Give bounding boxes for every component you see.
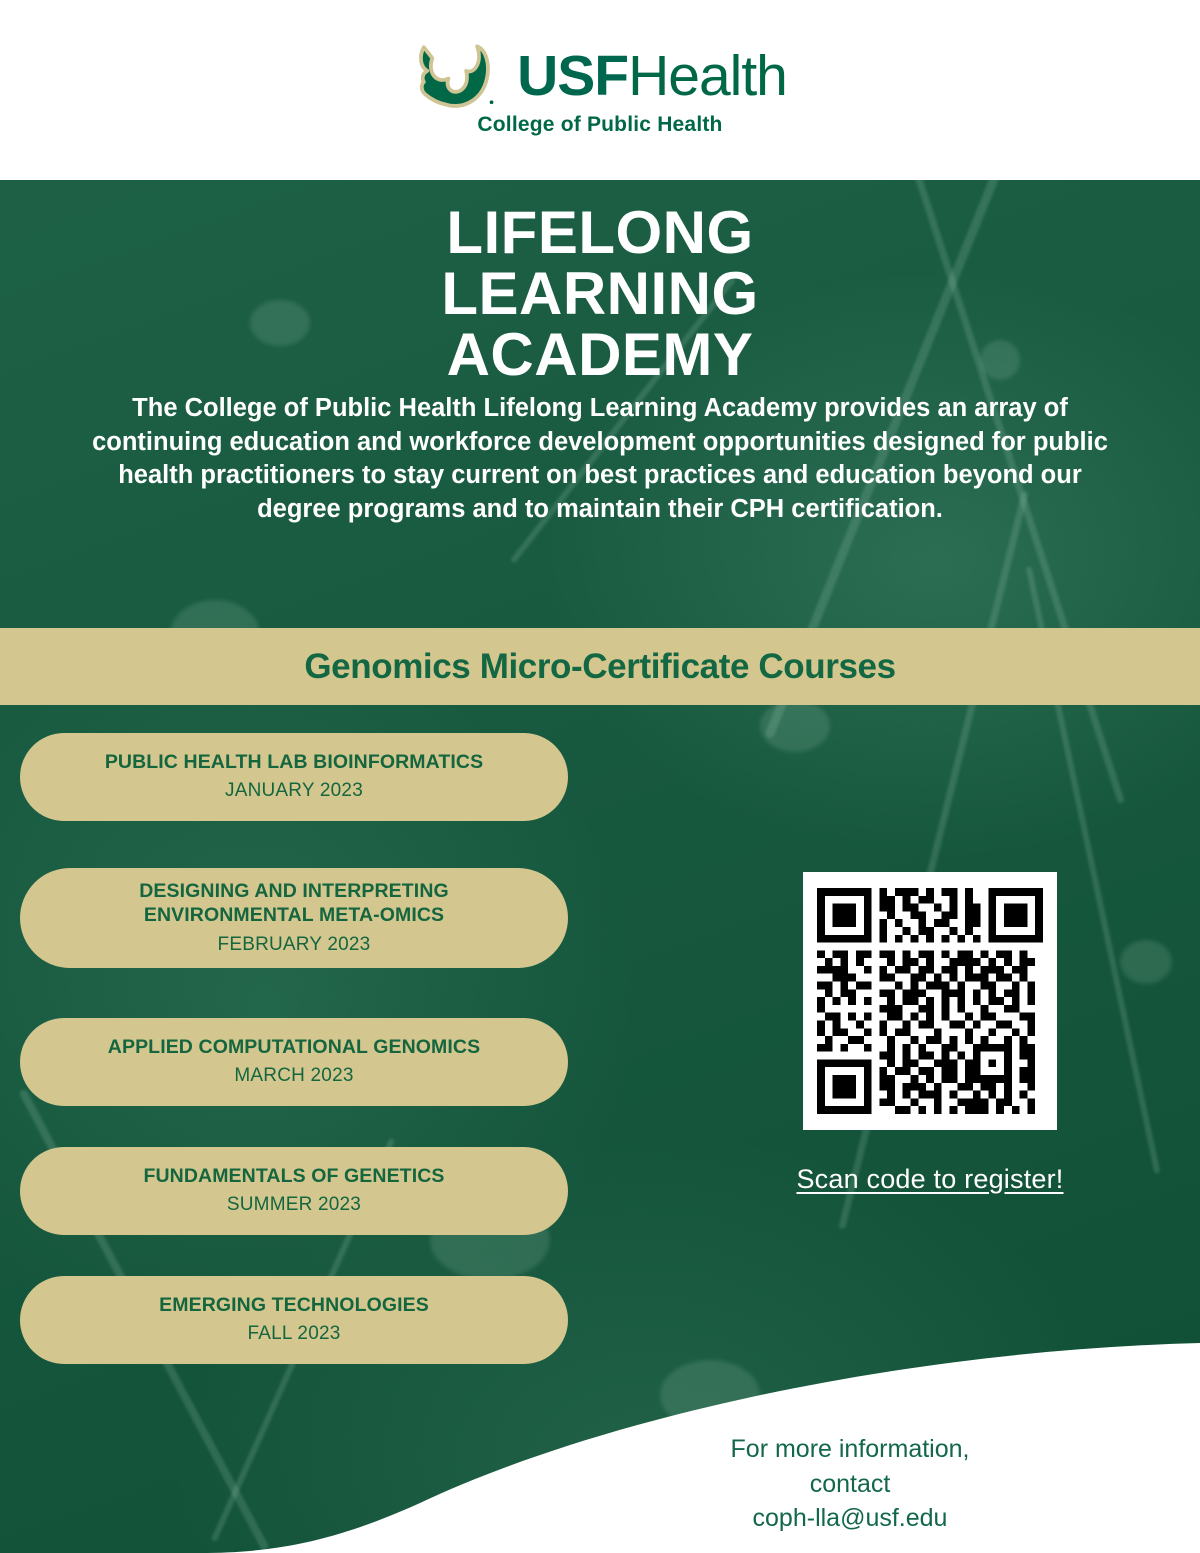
course-date: SUMMER 2023 bbox=[227, 1193, 361, 1218]
logo-subtitle: College of Public Health bbox=[477, 113, 722, 137]
intro-description: The College of Public Health Lifelong Le… bbox=[78, 392, 1122, 527]
course-name: APPLIED COMPUTATIONAL GENOMICS bbox=[108, 1035, 480, 1059]
logo-wordmark: USFHealth bbox=[517, 48, 787, 105]
header-logo-band: USFHealth College of Public Health bbox=[0, 0, 1200, 180]
usf-bull-icon bbox=[413, 43, 499, 109]
usf-health-logo: USFHealth College of Public Health bbox=[413, 43, 787, 137]
title-line-1: LIFELONG bbox=[0, 202, 1200, 263]
course-pill-5[interactable]: EMERGING TECHNOLOGIES FALL 2023 bbox=[20, 1276, 568, 1364]
logo-word-health: Health bbox=[628, 44, 787, 108]
course-date: JANUARY 2023 bbox=[225, 779, 363, 804]
section-banner: Genomics Micro-Certificate Courses bbox=[0, 628, 1200, 705]
qr-code-icon[interactable] bbox=[803, 872, 1057, 1130]
course-date: FEBRUARY 2023 bbox=[218, 933, 371, 958]
logo-word-usf: USF bbox=[517, 44, 628, 108]
main-green-panel: LIFELONG LEARNING ACADEMY The College of… bbox=[0, 180, 1200, 1553]
course-pill-3[interactable]: APPLIED COMPUTATIONAL GENOMICS MARCH 202… bbox=[20, 1018, 568, 1106]
course-date: MARCH 2023 bbox=[234, 1064, 353, 1089]
qr-caption[interactable]: Scan code to register! bbox=[740, 1164, 1120, 1195]
course-pill-2[interactable]: DESIGNING AND INTERPRETING ENVIRONMENTAL… bbox=[20, 868, 568, 968]
title-line-2: LEARNING bbox=[0, 263, 1200, 324]
page-title: LIFELONG LEARNING ACADEMY bbox=[0, 202, 1200, 386]
contact-line-2: contact bbox=[620, 1467, 1080, 1502]
contact-info: For more information, contact coph-lla@u… bbox=[620, 1432, 1080, 1536]
title-line-3: ACADEMY bbox=[0, 324, 1200, 385]
course-name: PUBLIC HEALTH LAB BIOINFORMATICS bbox=[105, 750, 483, 774]
contact-line-1: For more information, bbox=[620, 1432, 1080, 1467]
course-pill-1[interactable]: PUBLIC HEALTH LAB BIOINFORMATICS JANUARY… bbox=[20, 733, 568, 821]
contact-email[interactable]: coph-lla@usf.edu bbox=[620, 1501, 1080, 1536]
course-name: EMERGING TECHNOLOGIES bbox=[159, 1293, 429, 1317]
course-name: FUNDAMENTALS OF GENETICS bbox=[143, 1164, 444, 1188]
course-date: FALL 2023 bbox=[247, 1322, 340, 1347]
course-name: DESIGNING AND INTERPRETING ENVIRONMENTAL… bbox=[79, 879, 509, 928]
section-banner-title: Genomics Micro-Certificate Courses bbox=[304, 647, 895, 687]
course-pill-4[interactable]: FUNDAMENTALS OF GENETICS SUMMER 2023 bbox=[20, 1147, 568, 1235]
